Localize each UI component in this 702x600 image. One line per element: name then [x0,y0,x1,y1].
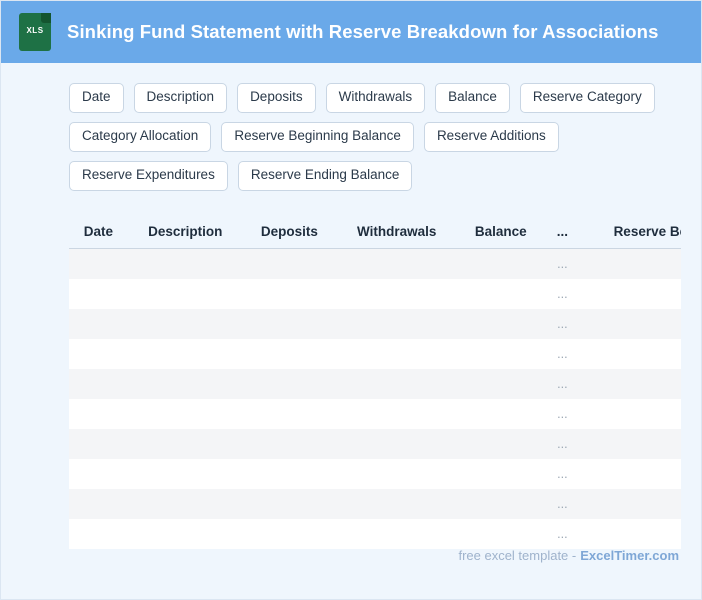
table-column-header: Date [69,217,128,249]
table-cell [336,309,457,339]
column-chip[interactable]: Reserve Expenditures [69,161,228,191]
table-cell-ellipsis: ... [544,429,580,459]
table-cell [128,339,243,369]
column-chip[interactable]: Deposits [237,83,316,113]
table-column-header-ellipsis: ... [544,217,580,249]
table-cell-ellipsis: ... [544,399,580,429]
page-header: XLS Sinking Fund Statement with Reserve … [1,1,701,63]
table-column-header: Description [128,217,243,249]
table-cell [69,248,128,279]
table-cell [457,309,544,339]
table-row: ... [69,489,681,519]
table-cell-ellipsis: ... [544,339,580,369]
table-cell [243,309,336,339]
table-header: Date Description Deposits Withdrawals Ba… [69,217,681,249]
table-column-header: Reserve Beginning Balance [581,217,681,249]
table-cell [581,489,681,519]
table-cell [581,519,681,549]
table-cell-ellipsis: ... [544,489,580,519]
table-cell [336,519,457,549]
column-chip[interactable]: Reserve Ending Balance [238,161,413,191]
table-cell [336,489,457,519]
table-cell [243,369,336,399]
column-chip-list: Date Description Deposits Withdrawals Ba… [69,83,679,191]
table-cell [128,248,243,279]
table-cell [243,429,336,459]
table-row: ... [69,429,681,459]
table-cell [336,279,457,309]
table-cell [457,369,544,399]
table-cell [243,339,336,369]
table-row: ... [69,309,681,339]
table-row: ... [69,519,681,549]
table-row: ... [69,399,681,429]
table-cell-ellipsis: ... [544,519,580,549]
xls-icon-fold [41,13,51,23]
table-row: ... [69,459,681,489]
footer-brand[interactable]: ExcelTimer.com [580,548,679,563]
table-cell [69,459,128,489]
table-cell [581,459,681,489]
table-cell-ellipsis: ... [544,459,580,489]
table-cell [336,429,457,459]
table-row: ... [69,369,681,399]
table-cell [336,399,457,429]
column-chip[interactable]: Date [69,83,124,113]
table-cell-ellipsis: ... [544,248,580,279]
table-cell [128,309,243,339]
page-title: Sinking Fund Statement with Reserve Brea… [67,21,658,43]
column-chip[interactable]: Withdrawals [326,83,426,113]
table-row: ... [69,279,681,309]
table-cell [69,429,128,459]
table-cell [69,339,128,369]
table-column-header: Balance [457,217,544,249]
table-cell [69,309,128,339]
table-cell [69,279,128,309]
table-cell [457,399,544,429]
table-cell [336,339,457,369]
table-header-row: Date Description Deposits Withdrawals Ba… [69,217,681,249]
table-cell-ellipsis: ... [544,369,580,399]
table-cell [581,369,681,399]
table-cell [457,519,544,549]
column-chip[interactable]: Reserve Beginning Balance [221,122,414,152]
table-cell [69,399,128,429]
table-cell [128,279,243,309]
table-cell [581,339,681,369]
table-column-header: Deposits [243,217,336,249]
table-cell [243,279,336,309]
column-chip[interactable]: Reserve Additions [424,122,559,152]
column-chip[interactable]: Balance [435,83,510,113]
table-cell [581,309,681,339]
xls-file-icon: XLS [19,13,51,51]
table-cell [69,489,128,519]
table-row: ... [69,248,681,279]
table-cell [581,248,681,279]
table-cell [581,429,681,459]
table-row: ... [69,339,681,369]
table-cell [128,429,243,459]
table-cell [457,489,544,519]
footer-text: free excel template - [458,548,576,563]
table-column-header: Withdrawals [336,217,457,249]
table-cell [128,489,243,519]
table-cell-ellipsis: ... [544,279,580,309]
table-cell [128,369,243,399]
table-body: ... ... [69,248,681,549]
table-cell [457,279,544,309]
table-cell [69,519,128,549]
table-cell [581,279,681,309]
table-cell [128,399,243,429]
footer-credit: free excel template -ExcelTimer.com [458,548,679,563]
table-cell [336,248,457,279]
table-cell [243,489,336,519]
page-root: XLS Sinking Fund Statement with Reserve … [0,0,702,600]
table-cell-ellipsis: ... [544,309,580,339]
table-cell [457,339,544,369]
column-chip[interactable]: Category Allocation [69,122,211,152]
table-cell [243,519,336,549]
table-cell [243,248,336,279]
table-cell [336,459,457,489]
table-cell [128,459,243,489]
table-cell [69,369,128,399]
table-cell [243,459,336,489]
column-chip[interactable]: Description [134,83,228,113]
table-cell [457,248,544,279]
table-cell [243,399,336,429]
table-cell [581,399,681,429]
preview-table-container: Date Description Deposits Withdrawals Ba… [69,217,681,549]
table-cell [457,459,544,489]
column-chip[interactable]: Reserve Category [520,83,655,113]
table-cell [336,369,457,399]
table-cell [128,519,243,549]
preview-table: Date Description Deposits Withdrawals Ba… [69,217,681,549]
xls-icon-label: XLS [19,26,51,35]
table-cell [457,429,544,459]
